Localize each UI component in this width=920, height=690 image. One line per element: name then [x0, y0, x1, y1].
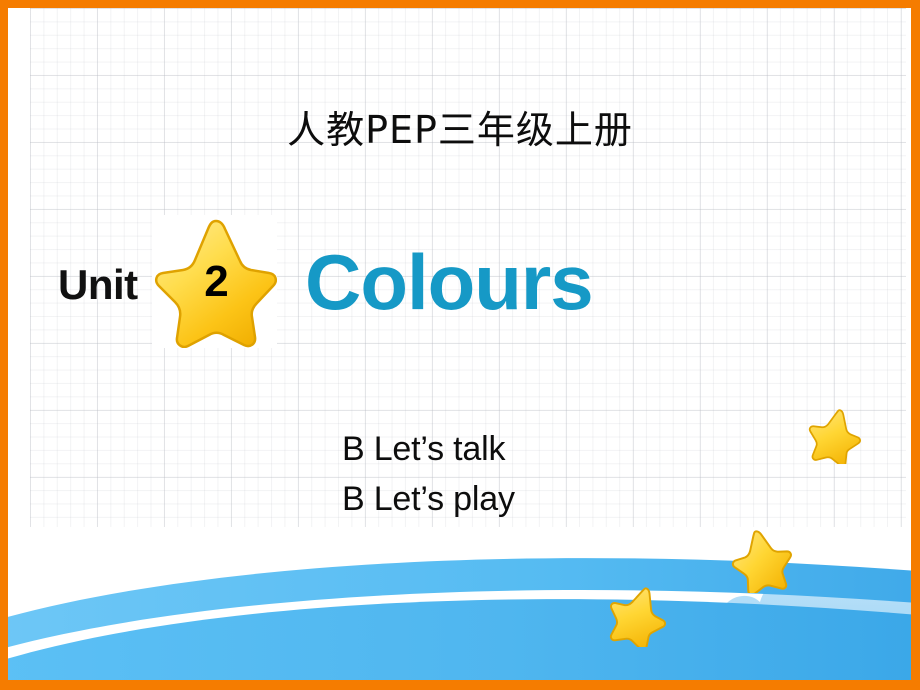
star-icon [605, 583, 669, 647]
star-icon [728, 527, 794, 593]
lesson-list: B Let’s talk B Let’s play [342, 425, 515, 524]
slide-border-left [0, 0, 8, 690]
topic-title: Colours [305, 243, 593, 321]
unit-star-badge: 2 [152, 215, 277, 348]
star-icon [805, 406, 863, 464]
unit-number: 2 [152, 215, 277, 348]
slide-border-right [911, 0, 920, 690]
lesson-item: B Let’s play [342, 475, 515, 525]
unit-label: Unit [58, 261, 138, 309]
slide-canvas: 人教PEP三年级上册 Unit 2 Colours B Let’s tal [0, 0, 920, 690]
wave-icon [0, 599, 920, 690]
decorative-star-left [605, 583, 669, 652]
decorative-star-mid [728, 527, 794, 598]
cloud-icon [690, 570, 912, 690]
unit-heading-row: Unit 2 Colours [58, 215, 678, 350]
course-title: 人教PEP三年级上册 [0, 99, 920, 154]
lesson-item: B Let’s talk [342, 425, 515, 475]
decorative-star-right [805, 406, 863, 469]
slide-border-top [0, 0, 920, 8]
slide-border-bottom [0, 680, 920, 690]
